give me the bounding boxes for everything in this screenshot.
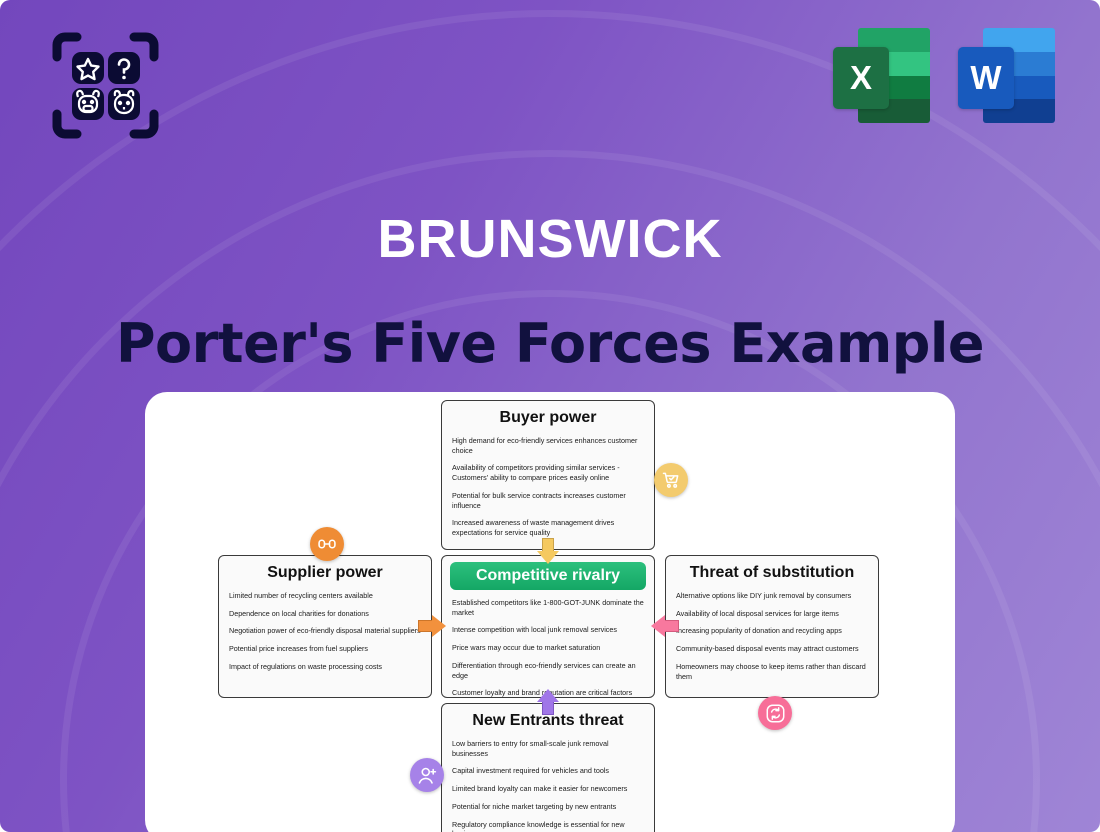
force-item: Homeowners may choose to keep items rath… [676,662,868,681]
force-item: Capital investment required for vehicles… [452,766,644,776]
pet-quiz-scan-logo[interactable] [47,27,164,144]
force-item: Differentiation through eco-friendly ser… [452,661,644,680]
arrow-substitution-to-rivalry [651,615,679,637]
force-item: Availability of competitors providing si… [452,463,644,482]
force-item: Limited brand loyalty can make it easier… [452,784,644,794]
arrow-buyer-to-rivalry [537,538,559,564]
force-list-supplier-power: Limited number of recycling centers avai… [229,591,421,672]
force-item: Availability of local disposal services … [676,609,868,619]
force-item: Established competitors like 1-800-GOT-J… [452,598,644,617]
sync-icon [765,703,786,724]
word-icon[interactable]: W [958,28,1055,123]
excel-letter-badge: X [833,47,889,109]
handshake-badge[interactable] [310,527,344,561]
force-title-buyer-power: Buyer power [452,409,644,427]
force-list-competitive-rivalry: Established competitors like 1-800-GOT-J… [452,598,644,698]
arrow-supplier-to-rivalry [418,615,446,637]
sync-badge[interactable] [758,696,792,730]
force-title-competitive-rivalry: Competitive rivalry [450,562,646,590]
force-box-threat-of-substitution[interactable]: Threat of substitution Alternative optio… [665,555,879,698]
force-item: Increasing popularity of donation and re… [676,626,868,636]
force-item: Negotiation power of eco-friendly dispos… [229,626,421,636]
force-list-new-entrants-threat: Low barriers to entry for small-scale ju… [452,739,644,832]
slide-canvas: X W BRUNSWICK Porter's Five Forces Examp… [0,0,1100,832]
shopping-cart-icon [661,470,681,490]
force-box-buyer-power[interactable]: Buyer power High demand for eco-friendly… [441,400,655,550]
handshake-icon [317,534,337,554]
force-item: Price wars may occur due to market satur… [452,643,644,653]
add-user-badge[interactable] [410,758,444,792]
porters-five-forces-card: Buyer power High demand for eco-friendly… [145,392,955,832]
force-item: Community-based disposal events may attr… [676,644,868,654]
force-item: Increased awareness of waste management … [452,518,644,537]
arrow-entrants-to-rivalry [537,689,559,715]
force-item: Low barriers to entry for small-scale ju… [452,739,644,758]
force-item: High demand for eco-friendly services en… [452,436,644,455]
force-item: Intense competition with local junk remo… [452,625,644,635]
excel-icon[interactable]: X [833,28,930,123]
force-box-new-entrants-threat[interactable]: New Entrants threat Low barriers to entr… [441,703,655,832]
force-item: Potential for niche market targeting by … [452,802,644,812]
force-item: Regulatory compliance knowledge is essen… [452,820,644,832]
force-list-buyer-power: High demand for eco-friendly services en… [452,436,644,538]
word-letter-badge: W [958,47,1014,109]
force-item: Impact of regulations on waste processin… [229,662,421,672]
force-list-threat-of-substitution: Alternative options like DIY junk remova… [676,591,868,681]
force-box-competitive-rivalry[interactable]: Competitive rivalry Established competit… [441,555,655,698]
brand-name: BRUNSWICK [0,208,1100,270]
page-title: Porter's Five Forces Example [0,312,1100,375]
force-item: Potential price increases from fuel supp… [229,644,421,654]
shopping-cart-badge[interactable] [654,463,688,497]
force-item: Limited number of recycling centers avai… [229,591,421,601]
force-item: Potential for bulk service contracts inc… [452,491,644,510]
force-item: Dependence on local charities for donati… [229,609,421,619]
force-box-supplier-power[interactable]: Supplier power Limited number of recycli… [218,555,432,698]
office-app-icons: X W [833,28,1055,123]
add-user-icon [417,765,438,786]
force-title-supplier-power: Supplier power [229,564,421,582]
force-title-threat-of-substitution: Threat of substitution [676,564,868,582]
force-item: Alternative options like DIY junk remova… [676,591,868,601]
